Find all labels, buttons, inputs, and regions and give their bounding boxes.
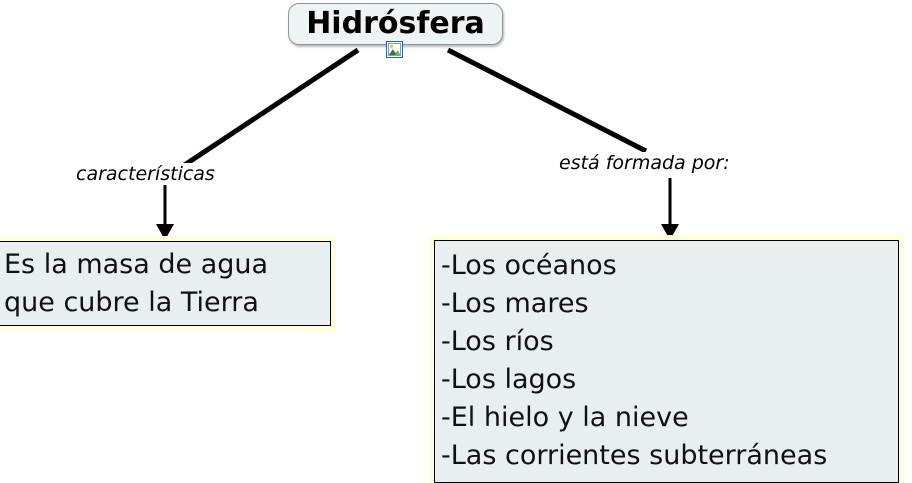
list-item: -Los ríos — [441, 323, 895, 361]
content-line: que cubre la Tierra — [4, 284, 327, 322]
list-item: -Los mares — [441, 285, 895, 323]
root-node[interactable]: Hidrósfera — [288, 3, 503, 45]
list-item: -Los lagos — [441, 361, 895, 399]
edge-label-formada: está formada por: — [557, 152, 732, 174]
root-node-label: Hidrósfera — [306, 9, 485, 39]
arrow-head-caracteristicas — [156, 224, 174, 240]
picture-icon[interactable] — [386, 41, 403, 58]
content-line: Es la masa de agua — [4, 246, 327, 284]
connector-line-formada — [448, 50, 646, 151]
concept-map-canvas: Hidrósfera características está formada … — [0, 0, 912, 483]
list-item: -El hielo y la nieve — [441, 399, 895, 437]
list-item: -Los océanos — [441, 247, 895, 285]
content-box-caracteristicas[interactable]: Es la masa de agua que cubre la Tierra — [0, 241, 331, 326]
connector-line-caracteristicas — [183, 50, 358, 166]
content-box-formada[interactable]: -Los océanos -Los mares -Los ríos -Los l… — [434, 240, 899, 483]
list-item: -Las corrientes subterráneas — [441, 437, 895, 475]
edge-label-caracteristicas: características — [74, 163, 217, 185]
arrow-head-formada — [661, 224, 679, 240]
